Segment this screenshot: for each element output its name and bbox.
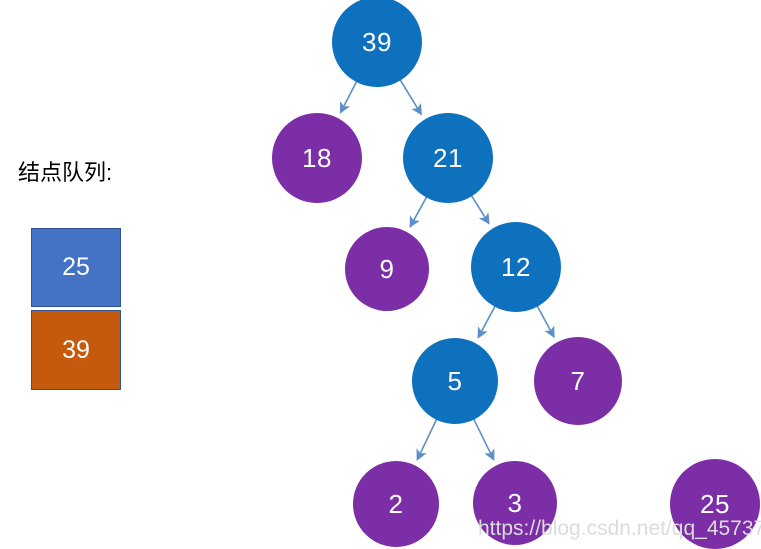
tree-node[interactable]: 39 xyxy=(332,0,422,87)
tree-node-label: 3 xyxy=(508,490,523,516)
tree-edge xyxy=(400,80,421,115)
queue-item[interactable]: 39 xyxy=(31,310,121,390)
queue-item-label: 39 xyxy=(62,336,90,365)
diagram-canvas: 391821912572325 结点队列: 2539 https://blog.… xyxy=(0,0,761,546)
tree-edge xyxy=(417,419,437,460)
tree-node[interactable]: 5 xyxy=(412,338,498,424)
queue-item[interactable]: 25 xyxy=(31,228,121,307)
tree-node-label: 2 xyxy=(389,491,404,517)
tree-node-label: 9 xyxy=(380,256,395,282)
tree-node[interactable]: 2 xyxy=(353,461,439,547)
tree-edge xyxy=(340,81,356,113)
tree-node-label: 12 xyxy=(501,254,531,280)
tree-edge xyxy=(478,306,495,338)
tree-node[interactable]: 7 xyxy=(534,337,622,425)
tree-edge xyxy=(471,195,489,223)
tree-node[interactable]: 25 xyxy=(670,459,760,549)
tree-edge xyxy=(474,419,494,460)
tree-node-label: 18 xyxy=(302,145,332,171)
tree-node-label: 5 xyxy=(448,368,463,394)
queue-panel-label: 结点队列: xyxy=(18,162,112,184)
tree-node[interactable]: 21 xyxy=(403,113,493,203)
tree-node[interactable]: 12 xyxy=(471,222,561,312)
tree-node[interactable]: 3 xyxy=(473,461,557,545)
tree-node[interactable]: 9 xyxy=(345,227,429,311)
tree-node[interactable]: 18 xyxy=(272,113,362,203)
tree-node-label: 25 xyxy=(700,491,730,517)
tree-node-label: 21 xyxy=(433,145,463,171)
tree-node-label: 7 xyxy=(571,368,586,394)
tree-edge xyxy=(537,306,554,337)
tree-node-label: 39 xyxy=(362,29,392,55)
queue-item-label: 25 xyxy=(62,253,90,282)
tree-edge xyxy=(410,197,427,227)
